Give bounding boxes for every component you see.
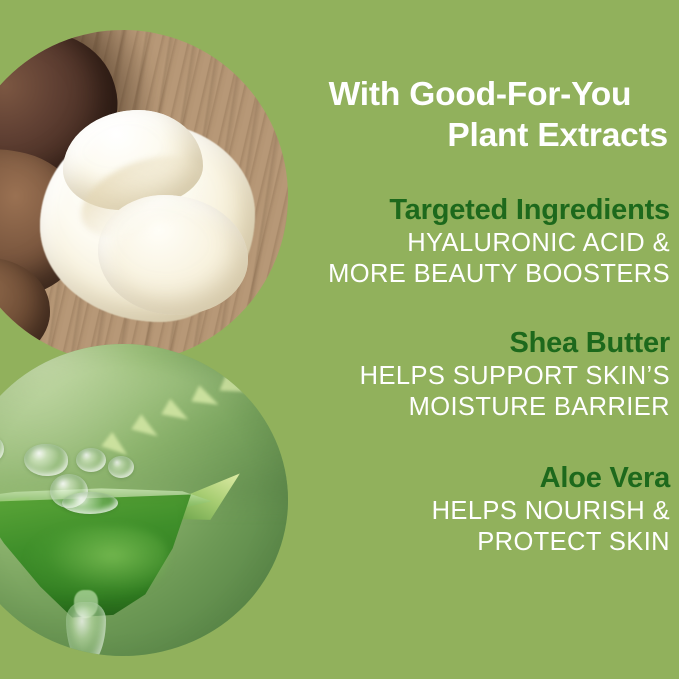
ingredient-title: Targeted Ingredients bbox=[290, 192, 670, 228]
page-title-line-1: With Good-For-You bbox=[329, 76, 632, 113]
ingredient-block-shea-butter: Shea Butter HELPS SUPPORT SKIN’S MOISTUR… bbox=[290, 325, 670, 423]
ingredient-description-line-2: MORE BEAUTY BOOSTERS bbox=[290, 259, 670, 290]
page-title-line-2: Plant Extracts bbox=[290, 115, 670, 156]
ingredient-description-line-1: HYALURONIC ACID & bbox=[290, 228, 670, 259]
ingredient-block-aloe-vera: Aloe Vera HELPS NOURISH & PROTECT SKIN bbox=[290, 460, 670, 558]
ingredient-block-targeted-ingredients: Targeted Ingredients HYALURONIC ACID & M… bbox=[290, 192, 670, 290]
ingredient-description: HELPS NOURISH & PROTECT SKIN bbox=[290, 496, 670, 558]
ingredient-title: Aloe Vera bbox=[290, 460, 670, 496]
ingredient-description-line-1: HELPS NOURISH & bbox=[290, 496, 670, 527]
ingredient-description: HELPS SUPPORT SKIN’S MOISTURE BARRIER bbox=[290, 361, 670, 423]
ingredient-description: HYALURONIC ACID & MORE BEAUTY BOOSTERS bbox=[290, 228, 670, 290]
plant-extracts-infographic: With Good-For-You Plant Extracts Targete… bbox=[0, 0, 679, 679]
shea-butter-photo bbox=[0, 30, 288, 363]
aloe-vera-photo bbox=[0, 344, 288, 656]
page-title: With Good-For-You Plant Extracts bbox=[290, 74, 670, 156]
ingredient-description-line-2: MOISTURE BARRIER bbox=[290, 392, 670, 423]
photo-vignette bbox=[0, 344, 288, 656]
text-column: With Good-For-You Plant Extracts Targete… bbox=[290, 0, 679, 679]
ingredient-description-line-1: HELPS SUPPORT SKIN’S bbox=[290, 361, 670, 392]
ingredient-title: Shea Butter bbox=[290, 325, 670, 361]
ingredient-description-line-2: PROTECT SKIN bbox=[290, 527, 670, 558]
